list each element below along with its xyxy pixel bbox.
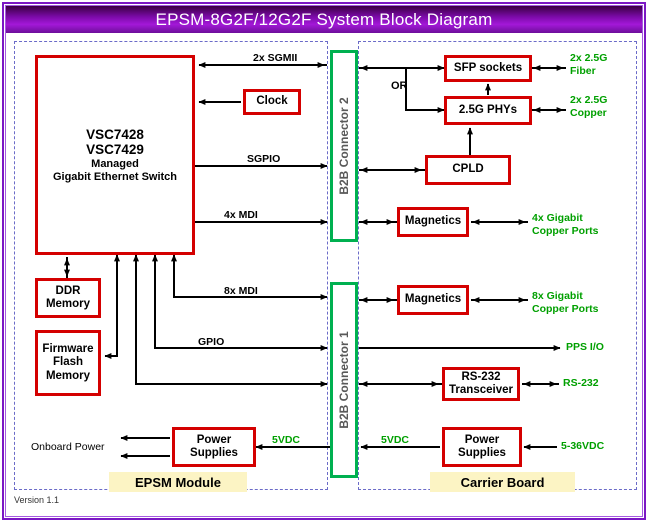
carrier-power-line-2: Supplies [458, 447, 506, 460]
signal-gpio: GPIO [198, 336, 224, 348]
epsm-power-line-1: Power [197, 434, 232, 447]
label-onboard-power: Onboard Power [31, 441, 105, 453]
port-4x-gigabit-copper: 4x Gigabit Copper Ports [532, 212, 599, 237]
phys-label: 2.5G PHYs [459, 104, 517, 117]
block-diagram-page: EPSM-8G2F/12G2F System Block Diagram [0, 0, 650, 524]
copper-line-1: 2x 2.5G [570, 94, 607, 107]
signal-carrier-5vdc: 5VDC [381, 434, 409, 446]
gig4-line-2: Copper Ports [532, 225, 599, 238]
sfp-label: SFP sockets [454, 62, 522, 75]
block-epsm-power-supplies[interactable]: Power Supplies [172, 427, 256, 467]
carrier-power-line-1: Power [465, 434, 500, 447]
switch-line-1: VSC7428 [86, 127, 144, 143]
flash-line-2: Flash [53, 356, 83, 369]
signal-or: OR [391, 80, 408, 92]
b2b-connector-2-label: B2B Connector 2 [337, 97, 351, 194]
copper-line-2: Copper [570, 107, 607, 120]
port-2x-25g-fiber: 2x 2.5G Fiber [570, 52, 607, 77]
zone-label-epsm-module: EPSM Module [109, 472, 247, 492]
block-sfp-sockets[interactable]: SFP sockets [444, 55, 532, 82]
gig8-line-1: 8x Gigabit [532, 290, 599, 303]
fiber-line-1: 2x 2.5G [570, 52, 607, 65]
port-rs232: RS-232 [563, 377, 599, 389]
block-rs232-transceiver[interactable]: RS-232 Transceiver [442, 367, 520, 401]
gig8-line-2: Copper Ports [532, 303, 599, 316]
block-ddr-memory[interactable]: DDR Memory [35, 278, 101, 318]
rs232-line-2: Transceiver [449, 384, 513, 397]
ddr-line-2: Memory [46, 298, 90, 311]
version-label: Version 1.1 [14, 495, 59, 505]
fiber-line-2: Fiber [570, 65, 607, 78]
signal-8x-mdi: 8x MDI [224, 285, 258, 297]
magnetics-8x-label: Magnetics [405, 293, 461, 306]
port-2x-25g-copper: 2x 2.5G Copper [570, 94, 607, 119]
block-vsc-switch[interactable]: VSC7428 VSC7429 Managed Gigabit Ethernet… [35, 55, 195, 255]
port-8x-gigabit-copper: 8x Gigabit Copper Ports [532, 290, 599, 315]
block-25g-phys[interactable]: 2.5G PHYs [444, 96, 532, 125]
switch-line-4: Gigabit Ethernet Switch [53, 171, 177, 184]
port-input-voltage: 5-36VDC [561, 440, 604, 452]
flash-line-1: Firmware [42, 343, 93, 356]
magnetics-4x-label: Magnetics [405, 215, 461, 228]
signal-4x-mdi: 4x MDI [224, 209, 258, 221]
block-firmware-flash-memory[interactable]: Firmware Flash Memory [35, 330, 101, 396]
cpld-label: CPLD [452, 163, 483, 176]
flash-line-3: Memory [46, 370, 90, 383]
port-pps-io: PPS I/O [566, 341, 604, 353]
b2b-connector-1-label: B2B Connector 1 [337, 331, 351, 428]
signal-2x-sgmii: 2x SGMII [253, 52, 297, 64]
gig4-line-1: 4x Gigabit [532, 212, 599, 225]
block-carrier-power-supplies[interactable]: Power Supplies [442, 427, 522, 467]
signal-sgpio: SGPIO [247, 153, 280, 165]
signal-epsm-5vdc: 5VDC [272, 434, 300, 446]
block-cpld[interactable]: CPLD [425, 155, 511, 185]
clock-label: Clock [256, 95, 287, 108]
block-clock[interactable]: Clock [243, 89, 301, 115]
block-magnetics-4x[interactable]: Magnetics [397, 207, 469, 237]
block-magnetics-8x[interactable]: Magnetics [397, 285, 469, 315]
switch-line-3: Managed [91, 158, 139, 171]
epsm-power-line-2: Supplies [190, 447, 238, 460]
ddr-line-1: DDR [56, 285, 81, 298]
switch-line-2: VSC7429 [86, 142, 144, 158]
rs232-line-1: RS-232 [462, 371, 501, 384]
zone-label-carrier-board: Carrier Board [430, 472, 575, 492]
